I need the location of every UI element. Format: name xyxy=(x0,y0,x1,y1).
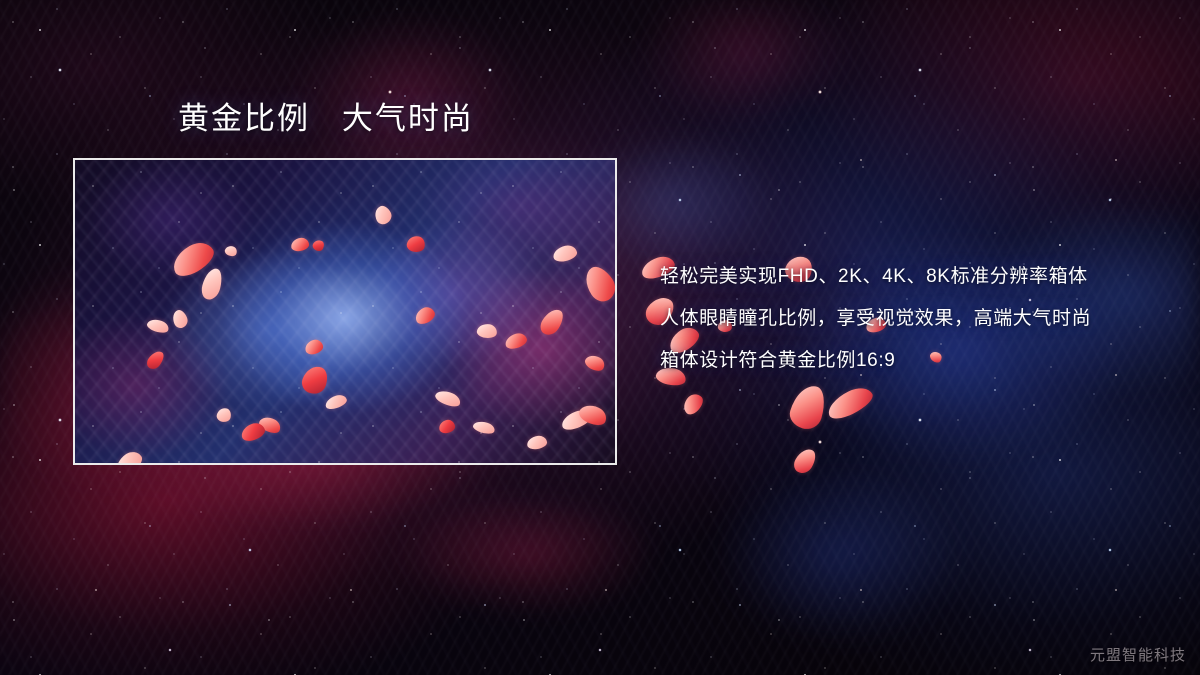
image-frame xyxy=(73,158,617,465)
presentation-slide: 黄金比例 大气时尚 轻松完美实现FHD、2K、4K、8K标准分辨率箱体 人体眼睛… xyxy=(0,0,1200,675)
image-content xyxy=(75,160,615,463)
body-text-line-3: 箱体设计符合黄金比例16:9 xyxy=(660,340,1160,382)
body-text-block: 轻松完美实现FHD、2K、4K、8K标准分辨率箱体 人体眼睛瞳孔比例，享受视觉效… xyxy=(660,256,1160,382)
background-petal xyxy=(680,391,707,418)
page-title: 黄金比例 大气时尚 xyxy=(178,100,474,137)
body-text-line-2: 人体眼睛瞳孔比例，享受视觉效果，高端大气时尚 xyxy=(660,298,1160,340)
background-petal xyxy=(791,445,820,477)
watermark: 元盟智能科技 xyxy=(1090,644,1186,665)
background-petal xyxy=(824,383,877,424)
background-petal xyxy=(787,381,830,432)
body-text-line-1: 轻松完美实现FHD、2K、4K、8K标准分辨率箱体 xyxy=(660,256,1160,298)
image-star-layer xyxy=(75,160,615,463)
